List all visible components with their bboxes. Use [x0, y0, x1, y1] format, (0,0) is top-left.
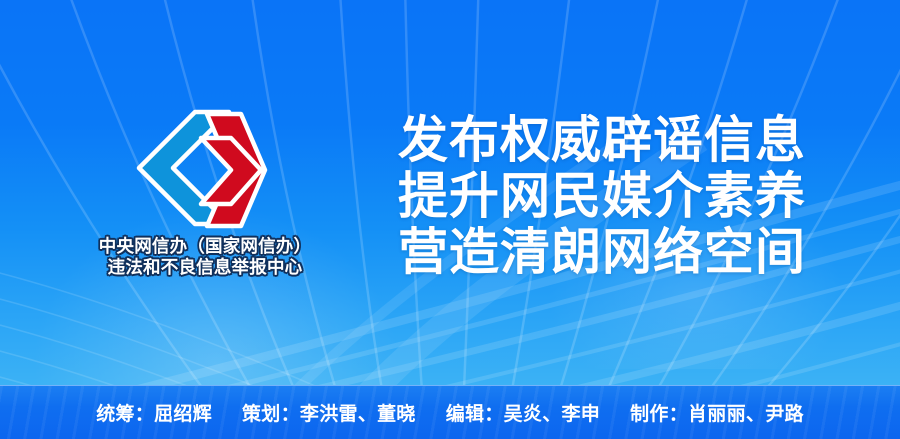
- headline-line-3: 营造清朗网络空间: [398, 224, 810, 280]
- organization-name-line-2: 违法和不良信息举报中心: [80, 257, 330, 278]
- credits-list: 统筹：屈绍辉 策划：李洪雷、董晓 编辑：吴炎、李申 制作：肖丽丽、尹路: [96, 399, 804, 426]
- credit-editor: 编辑：吴炎、李申: [446, 399, 600, 426]
- credit-planner: 策划：李洪雷、董晓: [242, 399, 416, 426]
- organization-name: 中央网信办（国家网信办） 违法和不良信息举报中心: [80, 236, 330, 279]
- credits-bar: 统筹：屈绍辉 策划：李洪雷、董晓 编辑：吴炎、李申 制作：肖丽丽、尹路: [0, 385, 900, 439]
- credit-producer: 制作：肖丽丽、尹路: [630, 399, 804, 426]
- organization-name-line-1: 中央网信办（国家网信办）: [80, 236, 330, 257]
- poster-banner: 中央网信办（国家网信办） 违法和不良信息举报中心 发布权威辟谣信息 提升网民媒介…: [0, 0, 900, 439]
- cyberspace-administration-report-center-logo-icon: [135, 108, 275, 230]
- credit-coordinator: 统筹：屈绍辉: [96, 399, 212, 426]
- headline-line-1: 发布权威辟谣信息: [398, 112, 810, 168]
- logo-block: 中央网信办（国家网信办） 违法和不良信息举报中心: [80, 108, 330, 279]
- headline-line-2: 提升网民媒介素养: [398, 168, 810, 224]
- headline: 发布权威辟谣信息 提升网民媒介素养 营造清朗网络空间: [398, 112, 810, 280]
